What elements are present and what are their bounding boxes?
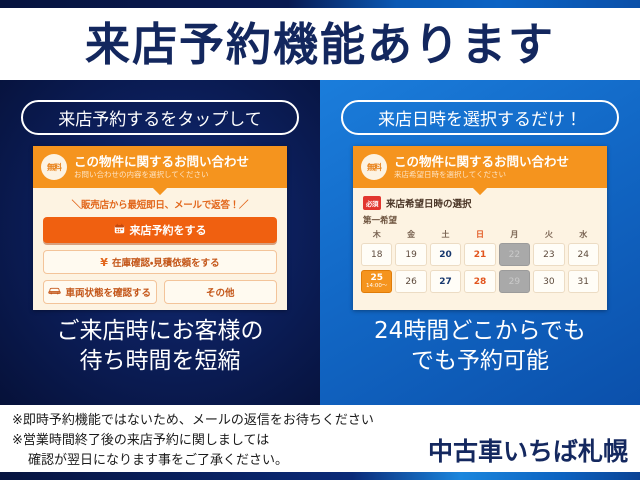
header-notch: [473, 181, 487, 195]
right-caption-line2: でも予約可能: [320, 346, 640, 376]
right-caption-line1: 24時間どこからでも: [320, 316, 640, 346]
free-badge-label: 無料: [47, 162, 61, 173]
left-caption-line1: ご来店時にお客様の: [0, 316, 320, 346]
other-inquiry-button[interactable]: その他: [164, 280, 278, 304]
left-phone-mockup: 無料 この物件に関するお問い合わせ お問い合わせの内容を選択してください ＼販売…: [33, 146, 287, 310]
headline-text: 来店予約機能あります: [85, 22, 555, 67]
calendar-widget[interactable]: 木金土日月火水 18192021222324 2514:00〜262728293…: [361, 229, 599, 293]
left-mock-header-text: この物件に関するお問い合わせ お問い合わせの内容を選択してください: [74, 154, 249, 180]
left-mock-header: 無料 この物件に関するお問い合わせ お問い合わせの内容を選択してください: [33, 146, 287, 188]
calendar-week-1[interactable]: 18192021222324: [361, 243, 599, 266]
left-pill-caption: 来店予約するをタップして: [21, 100, 299, 135]
right-mock-header-text: この物件に関するお問い合わせ 来店希望日時を選択してください: [394, 154, 569, 180]
calendar-day-number: 22: [509, 250, 520, 260]
disclaimer-line-1: ※即時予約機能ではないため、メールの返信をお待ちください: [12, 411, 374, 431]
left-panel-caption: ご来店時にお客様の 待ち時間を短縮: [0, 316, 320, 377]
left-mock-lead-text: ＼販売店から最短即日、メールで返答！／: [33, 197, 287, 211]
calendar-day-number: 31: [578, 277, 589, 287]
calendar-icon: [114, 223, 125, 237]
top-accent-strip: [0, 0, 640, 8]
calendar-day-29: 29: [499, 270, 530, 293]
calendar-day-30[interactable]: 30: [533, 270, 564, 293]
reserve-visit-label: 来店予約をする: [130, 222, 207, 238]
other-inquiry-label: その他: [206, 285, 235, 299]
preference-label: 第一希望: [363, 214, 607, 226]
calendar-day-number: 27: [439, 277, 452, 287]
calendar-day-20[interactable]: 20: [430, 243, 461, 266]
brand-logo: 中古車いちば札幌: [428, 432, 628, 468]
header-notch: [153, 181, 167, 195]
footer: ※即時予約機能ではないため、メールの返信をお待ちください ※営業時間終了後の来店…: [0, 405, 640, 472]
calendar-weekday-row: 木金土日月火水: [361, 229, 599, 243]
free-badge-icon: 無料: [361, 154, 387, 180]
right-panel-caption: 24時間どこからでも でも予約可能: [320, 316, 640, 377]
stock-quote-button[interactable]: ¥ 在庫確認・見積依頼をする: [43, 250, 277, 274]
calendar-day-number: 23: [543, 250, 554, 260]
calendar-day-number: 26: [405, 277, 416, 287]
calendar-day-number: 19: [405, 250, 416, 260]
panel-right-pick-datetime: 来店日時を選択するだけ！ 無料 この物件に関するお問い合わせ 来店希望日時を選択…: [320, 80, 640, 405]
calendar-day-22: 22: [499, 243, 530, 266]
advertisement-banner: 来店予約機能あります 来店予約するをタップして 無料 この物件に関するお問い合わ…: [0, 0, 640, 480]
reserve-visit-button[interactable]: 来店予約をする: [43, 217, 277, 243]
calendar-day-28[interactable]: 28: [464, 270, 495, 293]
calendar-weekday-水: 水: [568, 229, 599, 243]
calendar-day-26[interactable]: 26: [395, 270, 426, 293]
calendar-day-number: 28: [474, 277, 487, 287]
calendar-weekday-金: 金: [395, 229, 426, 243]
calendar-day-27[interactable]: 27: [430, 270, 461, 293]
left-caption-line2: 待ち時間を短縮: [0, 346, 320, 376]
yen-icon: ¥: [100, 256, 108, 269]
vehicle-condition-label: 車両状態を確認する: [65, 285, 151, 299]
calendar-day-31[interactable]: 31: [568, 270, 599, 293]
calendar-day-23[interactable]: 23: [533, 243, 564, 266]
right-mock-header: 無料 この物件に関するお問い合わせ 来店希望日時を選択してください: [353, 146, 607, 188]
calendar-day-21[interactable]: 21: [464, 243, 495, 266]
left-mock-button-row: 車両状態を確認する その他: [43, 280, 277, 304]
calendar-day-25[interactable]: 2514:00〜: [361, 270, 392, 293]
datetime-select-label: 来店希望日時の選択: [386, 196, 472, 210]
right-mock-title: この物件に関するお問い合わせ: [394, 154, 569, 170]
calendar-weekday-火: 火: [533, 229, 564, 243]
calendar-day-number: 25: [370, 273, 383, 283]
calendar-day-time: 14:00〜: [366, 284, 387, 290]
calendar-day-number: 21: [474, 250, 487, 260]
calendar-weekday-木: 木: [361, 229, 392, 243]
disclaimer-notes: ※即時予約機能ではないため、メールの返信をお待ちください ※営業時間終了後の来店…: [12, 411, 374, 471]
panel-left-tap-to-reserve: 来店予約するをタップして 無料 この物件に関するお問い合わせ お問い合わせの内容…: [0, 80, 320, 405]
headline-banner: 来店予約機能あります: [0, 8, 640, 80]
car-icon: [48, 286, 61, 298]
right-phone-mockup: 無料 この物件に関するお問い合わせ 来店希望日時を選択してください 必須 来店希…: [353, 146, 607, 310]
left-pill-label: 来店予約するをタップして: [58, 105, 262, 130]
right-pill-label: 来店日時を選択するだけ！: [378, 105, 582, 130]
vehicle-condition-button[interactable]: 車両状態を確認する: [43, 280, 157, 304]
calendar-day-number: 18: [371, 250, 382, 260]
required-badge: 必須: [363, 196, 381, 210]
left-mock-subtitle: お問い合わせの内容を選択してください: [74, 170, 249, 181]
stock-quote-label: 在庫確認・見積依頼をする: [112, 255, 220, 269]
left-mock-title: この物件に関するお問い合わせ: [74, 154, 249, 170]
calendar-day-number: 30: [543, 277, 554, 287]
right-pill-caption: 来店日時を選択するだけ！: [341, 100, 619, 135]
bottom-accent-strip: [0, 472, 640, 480]
calendar-week-2[interactable]: 2514:00〜262728293031: [361, 270, 599, 293]
right-mock-subtitle: 来店希望日時を選択してください: [394, 170, 569, 181]
disclaimer-line-2: ※営業時間終了後の来店予約に関しましては: [12, 431, 374, 451]
free-badge-icon: 無料: [41, 154, 67, 180]
free-badge-label: 無料: [367, 162, 381, 173]
disclaimer-line-3: 確認が翌日になります事をご了承ください。: [12, 451, 374, 471]
feature-panels: 来店予約するをタップして 無料 この物件に関するお問い合わせ お問い合わせの内容…: [0, 80, 640, 405]
calendar-day-18[interactable]: 18: [361, 243, 392, 266]
calendar-day-number: 29: [509, 277, 520, 287]
calendar-weekday-月: 月: [499, 229, 530, 243]
calendar-day-number: 20: [439, 250, 452, 260]
datetime-select-heading: 必須 来店希望日時の選択: [363, 196, 607, 210]
calendar-day-19[interactable]: 19: [395, 243, 426, 266]
calendar-weekday-日: 日: [464, 229, 495, 243]
calendar-weekday-土: 土: [430, 229, 461, 243]
calendar-day-24[interactable]: 24: [568, 243, 599, 266]
calendar-day-number: 24: [578, 250, 589, 260]
